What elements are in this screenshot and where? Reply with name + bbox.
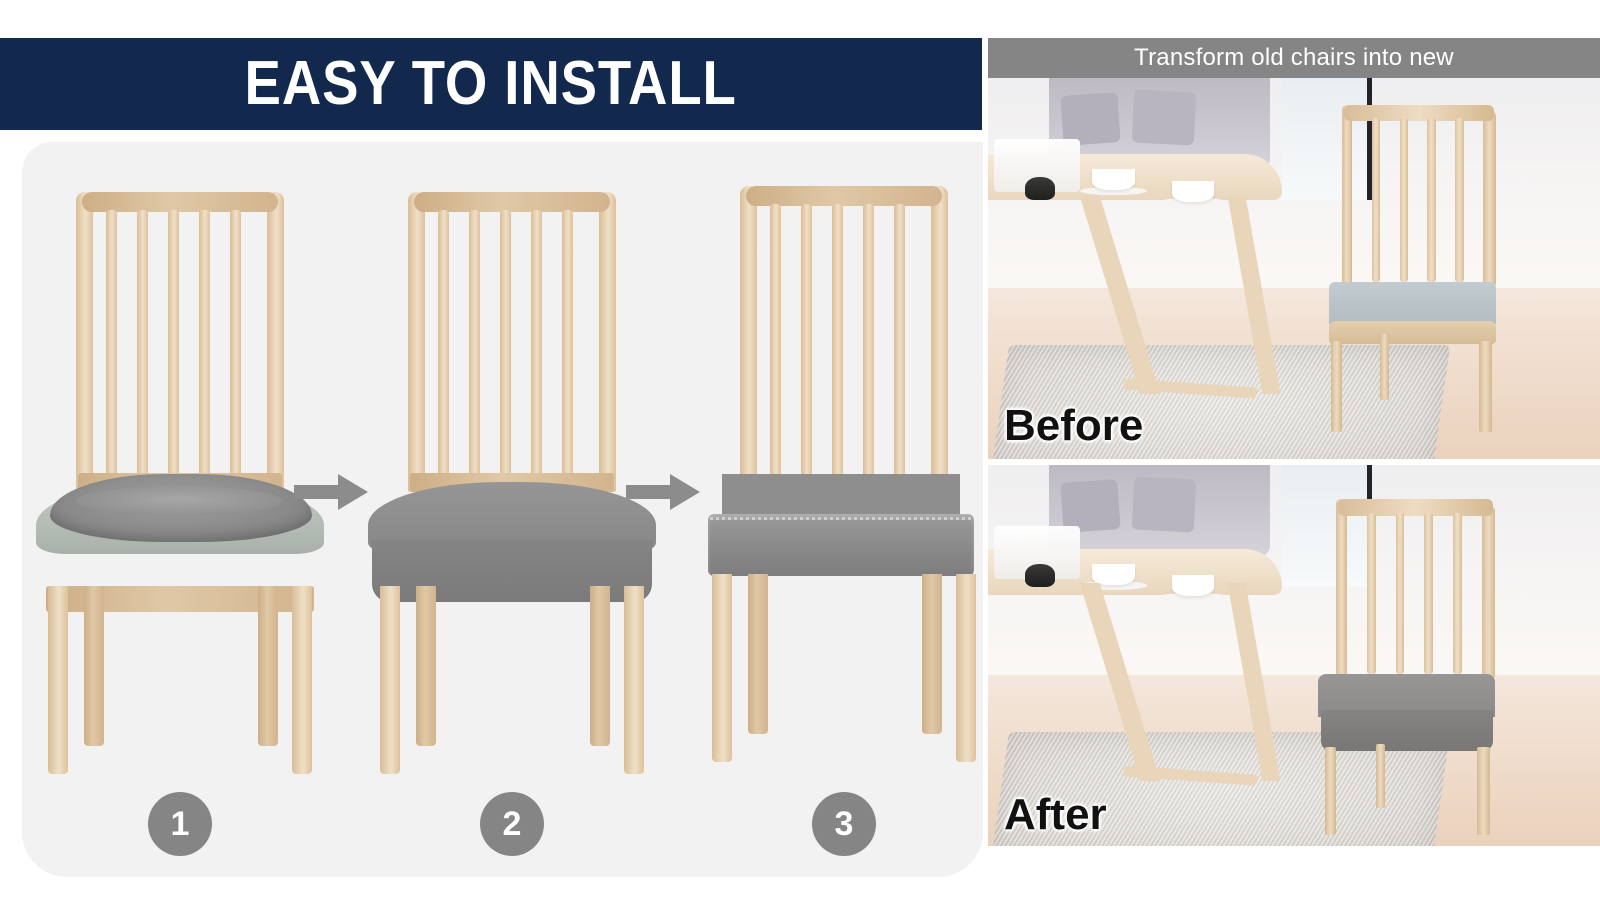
install-steps-card: 1 (22, 142, 983, 877)
backrest-stile-right (599, 192, 616, 492)
salt-pepper-shakers (1025, 564, 1056, 587)
before-label: Before (1004, 401, 1143, 451)
chair-leg-back-right (922, 574, 942, 734)
chair-seat (36, 482, 324, 602)
slipcover-draped (50, 474, 312, 542)
chair-seat-cover-skirt (1321, 710, 1493, 750)
chair-top-rail (1338, 499, 1492, 516)
chair-leg-front-right (292, 586, 312, 774)
step-arrow-1-to-2 (294, 472, 368, 512)
coffee-cup (1092, 169, 1135, 190)
backrest-slat (562, 210, 573, 478)
before-after-panel: Transform old chairs into new (988, 38, 1600, 843)
chair-leg-front-right (1477, 747, 1490, 834)
easy-to-install-panel: EASY TO INSTALL (0, 0, 983, 900)
chair-leg-front-left (48, 586, 68, 774)
page-title: EASY TO INSTALL (245, 53, 737, 115)
chair-backrest (408, 192, 616, 492)
chair-leg-front-right (624, 586, 644, 774)
backrest-slat (168, 210, 179, 478)
chair-leg-back-left (1376, 744, 1385, 808)
backrest-top-rail (82, 192, 278, 212)
before-photo: Before (988, 78, 1600, 459)
chair-slat (1424, 513, 1433, 674)
chair-leg-back-left (84, 586, 104, 746)
slipcover-elastic-hem (708, 514, 974, 576)
backrest-slat (230, 210, 241, 478)
dining-chair-before (1325, 105, 1539, 433)
backrest-slat (199, 210, 210, 478)
backrest-slat (500, 210, 511, 478)
backrest-slat (863, 204, 874, 504)
chair-leg-front-left (1325, 747, 1336, 834)
chair-backrest-rear (740, 186, 948, 516)
chair-illustration-step-1 (30, 182, 330, 762)
backrest-stile-left (740, 186, 757, 516)
step-arrow-2-to-3 (626, 472, 700, 512)
chair-leg-front-right (1479, 341, 1492, 433)
backrest-slat (801, 204, 812, 504)
slipcover-skirt (372, 540, 652, 602)
backrest-slat (894, 204, 905, 504)
backrest-stile-left (76, 192, 93, 492)
chair-stile-right (1483, 111, 1496, 288)
after-label: After (1004, 790, 1107, 840)
room-scene-after (988, 465, 1600, 846)
chair-seat-frame (1329, 321, 1496, 344)
step-badge-3: 3 (812, 792, 876, 856)
transform-header-bar: Transform old chairs into new (988, 38, 1600, 78)
install-step-1: 1 (30, 142, 330, 877)
step-badge-2: 2 (480, 792, 544, 856)
chair-illustration-step-2 (362, 182, 662, 762)
transform-header-text: Transform old chairs into new (1134, 44, 1454, 72)
chair-leg-front-left (1331, 341, 1342, 433)
chair-slat (1367, 513, 1376, 674)
coffee-cup (1172, 575, 1215, 596)
chair-leg-front-right (956, 574, 976, 762)
salt-pepper-shakers (1025, 177, 1056, 200)
chair-leg-back-right (258, 586, 278, 746)
backrest-slat (832, 204, 843, 504)
backrest-stile-right (267, 192, 284, 492)
dining-chair-after (1318, 499, 1538, 834)
chair-slat (1453, 513, 1462, 674)
chair-backrest (76, 192, 284, 492)
backrest-slat (770, 204, 781, 504)
chair-slat (1400, 118, 1409, 282)
chair-slat (1372, 118, 1381, 282)
chair-stile-right (1482, 506, 1495, 680)
step-badge-1: 1 (148, 792, 212, 856)
chair-stile-left (1342, 105, 1353, 288)
chair-leg-back-left (416, 586, 436, 746)
backrest-slat (106, 210, 117, 478)
install-step-3: 3 (694, 142, 983, 877)
chair-leg-front-left (380, 586, 400, 774)
backrest-slat (438, 210, 449, 478)
sofa (1049, 465, 1269, 556)
chair-seat (368, 482, 656, 602)
backrest-stile-right (931, 186, 948, 516)
chair-slat (1396, 513, 1405, 674)
slipcover-visible-through-slats (722, 474, 960, 516)
chair-leg-back-right (590, 586, 610, 746)
backrest-slat (137, 210, 148, 478)
backrest-slat (531, 210, 542, 478)
install-step-2: 2 (362, 142, 662, 877)
chair-top-rail (1344, 105, 1494, 121)
after-photo: After (988, 465, 1600, 846)
chair-slat (1455, 118, 1464, 282)
backrest-top-rail (414, 192, 610, 212)
backrest-stile-left (408, 192, 425, 492)
chair-leg-back-left (1380, 334, 1389, 400)
backrest-slat (469, 210, 480, 478)
chair-leg-back-left (748, 574, 768, 734)
chair-illustration-step-3 (694, 182, 983, 762)
chair-slat (1427, 118, 1436, 282)
chair-stile-left (1336, 499, 1347, 680)
backrest-top-rail (746, 186, 942, 206)
coffee-cup (1172, 181, 1215, 202)
chair-leg-front-left (712, 574, 732, 762)
coffee-cup (1092, 564, 1135, 585)
headline-banner: EASY TO INSTALL (0, 38, 982, 130)
